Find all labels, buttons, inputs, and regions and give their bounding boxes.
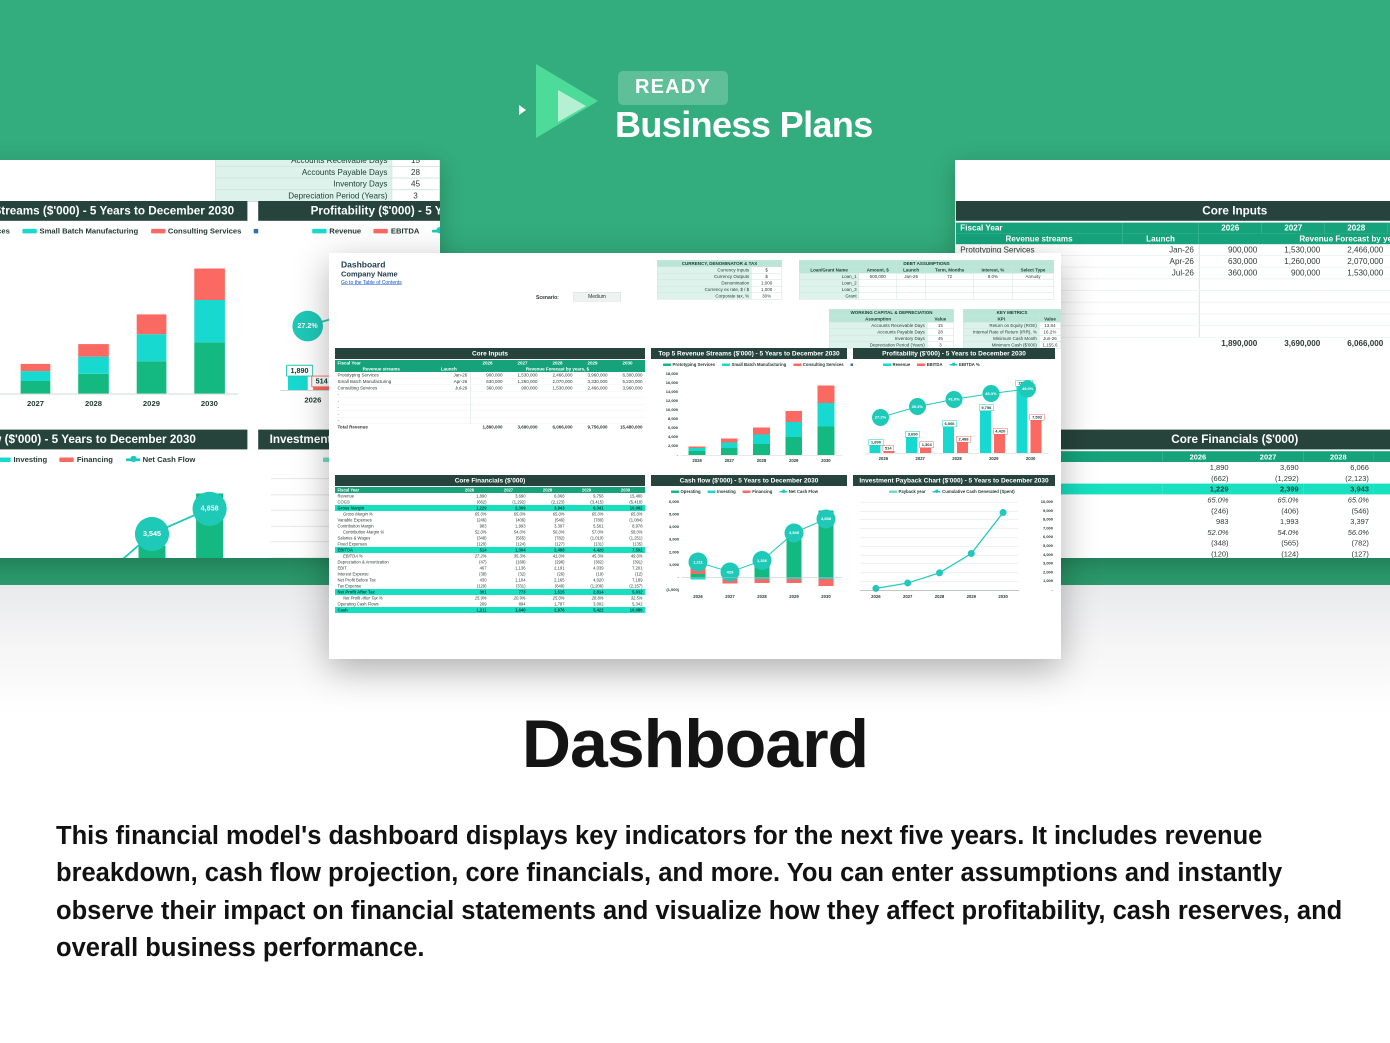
- line-item-value: (127): [1303, 548, 1373, 558]
- line-item-value: (348): [1163, 538, 1233, 549]
- stream-value: 630,000: [1199, 255, 1262, 267]
- working-capital-panel-cell: 45: [392, 178, 440, 190]
- legend-swatch: [793, 363, 801, 366]
- forecast-label: Revenue Forecast by years, $: [1199, 233, 1390, 244]
- y-tick: 12,000: [654, 399, 678, 404]
- working-capital-panel-row: Depreciation Period (Years)3: [215, 190, 439, 202]
- bar-segment: [136, 362, 166, 394]
- working-capital-panel-cell: 28: [392, 166, 440, 178]
- x-axis: [0, 394, 238, 395]
- bar-segment: [194, 300, 224, 342]
- core-financials-caption: Core Financials ($'000): [335, 475, 645, 486]
- stream-value: [1262, 302, 1325, 314]
- revenue-streams-caption: Top 5 Revenue Streams ($'000) - 5 Years …: [651, 348, 847, 359]
- line-item-value: (1,292): [1233, 473, 1303, 484]
- total-value: 6,066,000: [540, 424, 575, 430]
- year-header: 2029: [1373, 451, 1390, 462]
- year-header: 2028: [1303, 451, 1373, 462]
- debt-panel-cell: [897, 293, 926, 300]
- revenue-streams-legend-item: Prototyping Services: [0, 226, 10, 235]
- bar-segment: [721, 448, 738, 455]
- dashboard-sheet[interactable]: DashboardCompany NameGo to the Table of …: [329, 253, 1061, 659]
- legend-label: Consulting Services: [168, 226, 242, 235]
- total-value: 1,890,000: [1199, 337, 1262, 348]
- y-tick: 14,000: [654, 390, 678, 395]
- play-accent-icon: [519, 105, 526, 115]
- line-item-value: 2,976: [528, 607, 567, 613]
- y-tick: 18,000: [654, 372, 678, 377]
- line-item-value: 1,890: [1163, 462, 1233, 473]
- y-tick: 2,000: [654, 444, 678, 449]
- stream-value: [1199, 314, 1262, 326]
- x-axis: [681, 455, 842, 456]
- y-tick: 10,000: [654, 408, 678, 413]
- bar-segment: [20, 364, 50, 371]
- line-item-value: 5,561: [1373, 516, 1390, 527]
- bar-segment: [20, 381, 50, 393]
- legend-label: Prototyping Services: [0, 226, 10, 235]
- bar-segment: [721, 438, 738, 442]
- bar-segment: [136, 315, 166, 335]
- stream-value: 2,070,000: [1325, 255, 1388, 267]
- total-value: 9,756,000: [575, 424, 610, 430]
- line-item-label: Cash: [335, 607, 450, 613]
- bar-segment: [753, 444, 770, 455]
- x-category: 2029: [778, 458, 810, 463]
- x-category: 2027: [713, 458, 745, 463]
- net-cash-flow-bubble: 3,545: [135, 517, 169, 551]
- bar-segment: [78, 374, 108, 394]
- total-label: Total Revenue: [335, 424, 428, 430]
- stream-value: [1199, 302, 1262, 314]
- line-item-value: 9,756: [1373, 462, 1390, 473]
- stream-value: [1199, 291, 1262, 303]
- line-item-value: 3,943: [1303, 484, 1373, 495]
- net-cash-flow-bubble: 1,336: [753, 551, 772, 570]
- bar-segment: [689, 446, 706, 448]
- line-item-value: 65.0%: [1233, 494, 1303, 505]
- line-item-value: 1,640: [489, 607, 528, 613]
- core-inputs-caption: Core Inputs: [956, 201, 1390, 221]
- cash-flow-chart: Cash flow ($'000) - 5 Years to December …: [0, 430, 247, 558]
- zero-axis: [682, 577, 842, 578]
- play-logo-icon: [528, 60, 606, 142]
- line-item-value: (406): [1233, 505, 1303, 516]
- bar-segment: [78, 344, 108, 356]
- debt-panel-cell: [974, 293, 1013, 300]
- x-axis: [865, 453, 1049, 454]
- stream-launch: Jan-26: [1122, 244, 1199, 255]
- ebitda-pct-line: [853, 348, 1055, 468]
- brand-name: Business Plans: [616, 104, 873, 146]
- investment-payback-chart: Investment Payback Chart ($'000) - 5 Yea…: [853, 475, 1055, 606]
- core-inputs-total-row: Total Revenue1,890,0003,690,0006,066,000…: [335, 424, 645, 430]
- debt-panel-cell: [1012, 293, 1053, 300]
- line-item-value: 57.0%: [1373, 527, 1390, 538]
- bar-segment: [753, 428, 770, 435]
- ebitda-pct-bubble: 45.3%: [982, 385, 999, 402]
- key-metrics-panel: KEY METRICSKPIValueReturn on Equity (ROE…: [963, 309, 1061, 349]
- stream-launch: [1122, 302, 1199, 314]
- total-value: 3,690,000: [505, 424, 540, 430]
- line-item-value: 5,422: [567, 607, 606, 613]
- line-item-value: 1,229: [1163, 484, 1233, 495]
- stream-launch: Jul-26: [1122, 267, 1199, 279]
- y-tick: 8,000: [654, 417, 678, 422]
- data-point: [872, 585, 879, 592]
- line-item-value: 1,211: [450, 607, 489, 613]
- launch-label: Launch: [1122, 233, 1199, 244]
- line-item-value: 6,066: [1303, 462, 1373, 473]
- legend-label: Prototyping Services: [673, 362, 716, 367]
- net-cash-flow-bubble: 4,658: [193, 491, 227, 525]
- net-cash-flow-bubble: 3,545: [785, 523, 804, 542]
- ebitda-pct-bubble: 49.0%: [1019, 380, 1036, 397]
- stream-value: 1,260,000: [1262, 255, 1325, 267]
- year-header: 2026: [1199, 223, 1262, 234]
- x-category: 2026: [681, 458, 713, 463]
- brand-logo: READY Business Plans: [528, 58, 888, 153]
- legend-label: Small Batch Manufacturing: [40, 226, 139, 235]
- data-point: [1000, 509, 1007, 516]
- line-item-value: 1,993: [1233, 516, 1303, 527]
- bar-segment: [136, 335, 166, 362]
- y-tick: 4,000: [654, 435, 678, 440]
- core-inputs-row: Small Batch ManufacturingApr-26630,0001,…: [335, 378, 645, 385]
- core-inputs-year-header: Fiscal Year20262027202820292030: [956, 223, 1390, 234]
- line-item-value: (3,415): [1373, 473, 1390, 484]
- table-of-contents-link[interactable]: Go to the Table of Contents: [341, 280, 402, 286]
- stream-value: 1,530,000: [1325, 267, 1388, 279]
- debt-panel-row: Grant: [799, 293, 1054, 300]
- core-inputs-subheader: Revenue streamsLaunchRevenue Forecast by…: [956, 233, 1390, 244]
- ebitda-pct-bubble: 27.2%: [872, 409, 889, 426]
- stream-launch: [1122, 279, 1199, 291]
- key-metrics-panel-cell: Internal Rate of Return (IRR), %: [963, 329, 1039, 336]
- key-metrics-panel-table: KEY METRICSKPIValueReturn on Equity (ROE…: [963, 309, 1061, 349]
- working-capital-panel-cell: 3: [392, 190, 440, 202]
- revenue-streams-legend-item: Consulting Services: [793, 362, 843, 367]
- core-financials-table: Fiscal Year20262027202820292030Revenue1,…: [335, 487, 645, 613]
- currency-panel: CURRENCY, DENOMINATOR & TAXCurrency Inpu…: [657, 260, 782, 300]
- x-category: 2029: [122, 399, 180, 408]
- working-capital-panel-table: WORKING CAPITAL & DEPRECIATIONAssumption…: [829, 309, 954, 349]
- core-financials-row: Cash1,2111,6402,9765,42210,080: [335, 607, 645, 613]
- ready-badge: READY: [618, 71, 728, 105]
- company-name: Company Name: [341, 270, 398, 279]
- stream-launch: [1122, 291, 1199, 303]
- stream-value: [1325, 279, 1388, 291]
- data-point: [904, 580, 911, 587]
- line-item-value: 65.0%: [1373, 494, 1390, 505]
- bar-segment: [785, 437, 802, 455]
- working-capital-panel-cell: Accounts Payable Days: [215, 166, 391, 178]
- stream-value: 360,000: [1199, 267, 1262, 279]
- bar-segment: [78, 357, 108, 374]
- line-item-value: 6,341: [1373, 484, 1390, 495]
- working-capital-panel: WORKING CAPITAL & DEPRECIATIONAssumption…: [215, 160, 440, 202]
- data-point: [968, 550, 975, 557]
- y-tick: -: [654, 453, 678, 458]
- revenue-streams-label: Revenue streams: [956, 233, 1123, 244]
- line-item-value: 983: [1163, 516, 1233, 527]
- working-capital-panel-cell: Inventory Days: [215, 178, 391, 190]
- debt-panel: DEBT ASSUMPTIONSLoan/Grant NameAmount, $…: [799, 260, 1054, 300]
- legend-label: Small Batch Manufacturing: [732, 362, 787, 367]
- line-item-value: (2,123): [1303, 473, 1373, 484]
- core-inputs-table: Fiscal Year20262027202820292030Revenue s…: [335, 360, 645, 430]
- stream-value: [1262, 279, 1325, 291]
- stream-value: 2,466,000: [1325, 244, 1388, 255]
- stream-value: [1199, 326, 1262, 338]
- ebitda-pct-bubble: 27.2%: [292, 311, 323, 342]
- x-axis: [860, 590, 1019, 591]
- year-header: 2027: [1262, 223, 1325, 234]
- line-item-value: 65.0%: [1303, 494, 1373, 505]
- scenario-label: Scenario:: [536, 295, 559, 301]
- ebitda-pct-bubble: 35.3%: [909, 398, 926, 415]
- legend-swatch: [151, 228, 165, 233]
- line-item-value: (662): [1163, 473, 1233, 484]
- revenue-streams-chart: Top 5 Revenue Streams ($'000) - 5 Years …: [651, 348, 847, 468]
- stream-value: [1325, 291, 1388, 303]
- legend-swatch: [722, 363, 730, 366]
- stream-value: 900,000: [1262, 267, 1325, 279]
- cash-flow-chart: Cash flow ($'000) - 5 Years to December …: [651, 475, 847, 606]
- total-value: 3,690,000: [1262, 337, 1325, 348]
- key-metrics-panel-row: Internal Rate of Return (IRR), %16.2%: [963, 329, 1061, 336]
- line-item-value: (565): [1233, 538, 1303, 549]
- line-item-value: (546): [1303, 505, 1373, 516]
- line-item-value: 3,397: [1303, 516, 1373, 527]
- x-category: 2028: [65, 399, 123, 408]
- brand-name-text: Business Plans: [615, 104, 873, 145]
- working-capital-panel: WORKING CAPITAL & DEPRECIATIONAssumption…: [829, 309, 954, 349]
- line-item-value: (120): [1163, 548, 1233, 558]
- bar-segment: [785, 411, 802, 422]
- bar-segment: [818, 427, 835, 455]
- data-point: [936, 569, 943, 576]
- net-cash-flow-bubble: 4,658: [817, 509, 836, 528]
- revenue-streams-chart: Top 5 Revenue Streams ($'000) - 5 Years …: [0, 201, 247, 417]
- working-capital-panel-table: WORKING CAPITAL & DEPRECIATIONAssumption…: [215, 160, 440, 202]
- fiscal-year-label: Fiscal Year: [956, 223, 1123, 234]
- line-item-value: (1,010): [1373, 538, 1390, 549]
- line-item-value: 54.0%: [1233, 527, 1303, 538]
- stream-value: [1262, 314, 1325, 326]
- y-tick: 16,000: [654, 381, 678, 386]
- page-description: This financial model's dashboard display…: [56, 818, 1346, 968]
- net-cash-flow-line: [651, 475, 847, 606]
- line-item-value: 65.0%: [1163, 494, 1233, 505]
- x-category: 2030: [810, 458, 842, 463]
- year-header: 2026: [1163, 451, 1233, 462]
- year-header: 2027: [1233, 451, 1303, 462]
- line-item-value: 3,690: [1233, 462, 1303, 473]
- total-value: 6,066,000: [1325, 337, 1388, 348]
- stream-launch: [1122, 326, 1199, 338]
- scenario-selector[interactable]: Medium: [573, 292, 621, 302]
- bar-segment: [20, 371, 50, 381]
- year-header: 2028: [1325, 223, 1388, 234]
- legend-swatch: [22, 228, 36, 233]
- ebitda-pct-bubble: 41.0%: [946, 391, 963, 408]
- working-capital-panel-cell: Depreciation Period (Years): [215, 190, 391, 202]
- bar-segment: [194, 268, 224, 300]
- line-item-value: 56.0%: [1303, 527, 1373, 538]
- bar-segment: [818, 385, 835, 403]
- stream-value: 900,000: [1199, 244, 1262, 255]
- net-cash-flow-bubble: 429: [721, 563, 740, 582]
- line-item-value: (246): [1163, 505, 1233, 516]
- bar-segment: [785, 422, 802, 437]
- currency-panel-cell: 30%: [751, 293, 781, 300]
- stream-value: 1,530,000: [1262, 244, 1325, 255]
- bar-segment: [721, 442, 738, 448]
- stream-value: [1325, 314, 1388, 326]
- working-capital-panel-row: Accounts Payable Days28: [215, 166, 439, 178]
- total-value: 1,890,000: [470, 424, 505, 430]
- page-title: Dashboard: [0, 705, 1390, 783]
- debt-panel-cell: [859, 293, 897, 300]
- bar-segment: [753, 435, 770, 444]
- total-value: 15,480,000: [610, 424, 645, 430]
- sheet-title: Dashboard: [341, 260, 385, 270]
- core-inputs-caption: Core Inputs: [335, 348, 645, 359]
- x-category: 2028: [745, 458, 777, 463]
- x-category: 2027: [7, 399, 65, 408]
- stream-value: [1262, 291, 1325, 303]
- line-item-value: 52.0%: [1163, 527, 1233, 538]
- cumulative-cash-line: [853, 475, 1055, 606]
- line-item-value: (124): [1233, 548, 1303, 558]
- y-tick: 6,000: [654, 426, 678, 431]
- revenue-streams-legend-item: Prototyping Services: [663, 362, 715, 367]
- line-item-value: (131): [1373, 548, 1390, 558]
- currency-panel-row: Corporate tax, %30%: [657, 293, 782, 300]
- working-capital-panel-row: Inventory Days45: [215, 178, 439, 190]
- legend-swatch: [663, 363, 671, 366]
- line-item-value: 10,080: [606, 607, 645, 613]
- x-category: 2030: [180, 399, 238, 408]
- stream-value: [1262, 326, 1325, 338]
- line-item-value: 2,399: [1233, 484, 1303, 495]
- debt-panel-cell: Grant: [799, 293, 859, 300]
- bar-segment: [689, 448, 706, 451]
- stream-value: [1199, 279, 1262, 291]
- stream-launch: Apr-26: [1122, 255, 1199, 267]
- debt-panel-cell: [926, 293, 974, 300]
- debt-panel-table: DEBT ASSUMPTIONSLoan/Grant NameAmount, $…: [799, 260, 1054, 300]
- stream-value: [1325, 302, 1388, 314]
- revenue-streams-caption: Top 5 Revenue Streams ($'000) - 5 Years …: [0, 201, 247, 221]
- profitability-chart: Profitability ($'000) - 5 Years to Decem…: [853, 348, 1055, 468]
- bar-segment: [194, 343, 224, 394]
- revenue-streams-legend-item: Small Batch Manufacturing: [22, 226, 138, 235]
- line-item-value: (780): [1373, 505, 1390, 516]
- line-item-value: (782): [1303, 538, 1373, 549]
- bar-segment: [818, 403, 835, 426]
- revenue-streams-legend-item: Consulting Services: [151, 226, 242, 235]
- stream-value: [1325, 326, 1388, 338]
- currency-panel-table: CURRENCY, DENOMINATOR & TAXCurrency Inpu…: [657, 260, 782, 300]
- currency-panel-cell: Corporate tax, %: [657, 293, 751, 300]
- stream-launch: [1122, 314, 1199, 326]
- legend-label: Consulting Services: [803, 362, 844, 367]
- revenue-streams-legend-item: Small Batch Manufacturing: [722, 362, 786, 367]
